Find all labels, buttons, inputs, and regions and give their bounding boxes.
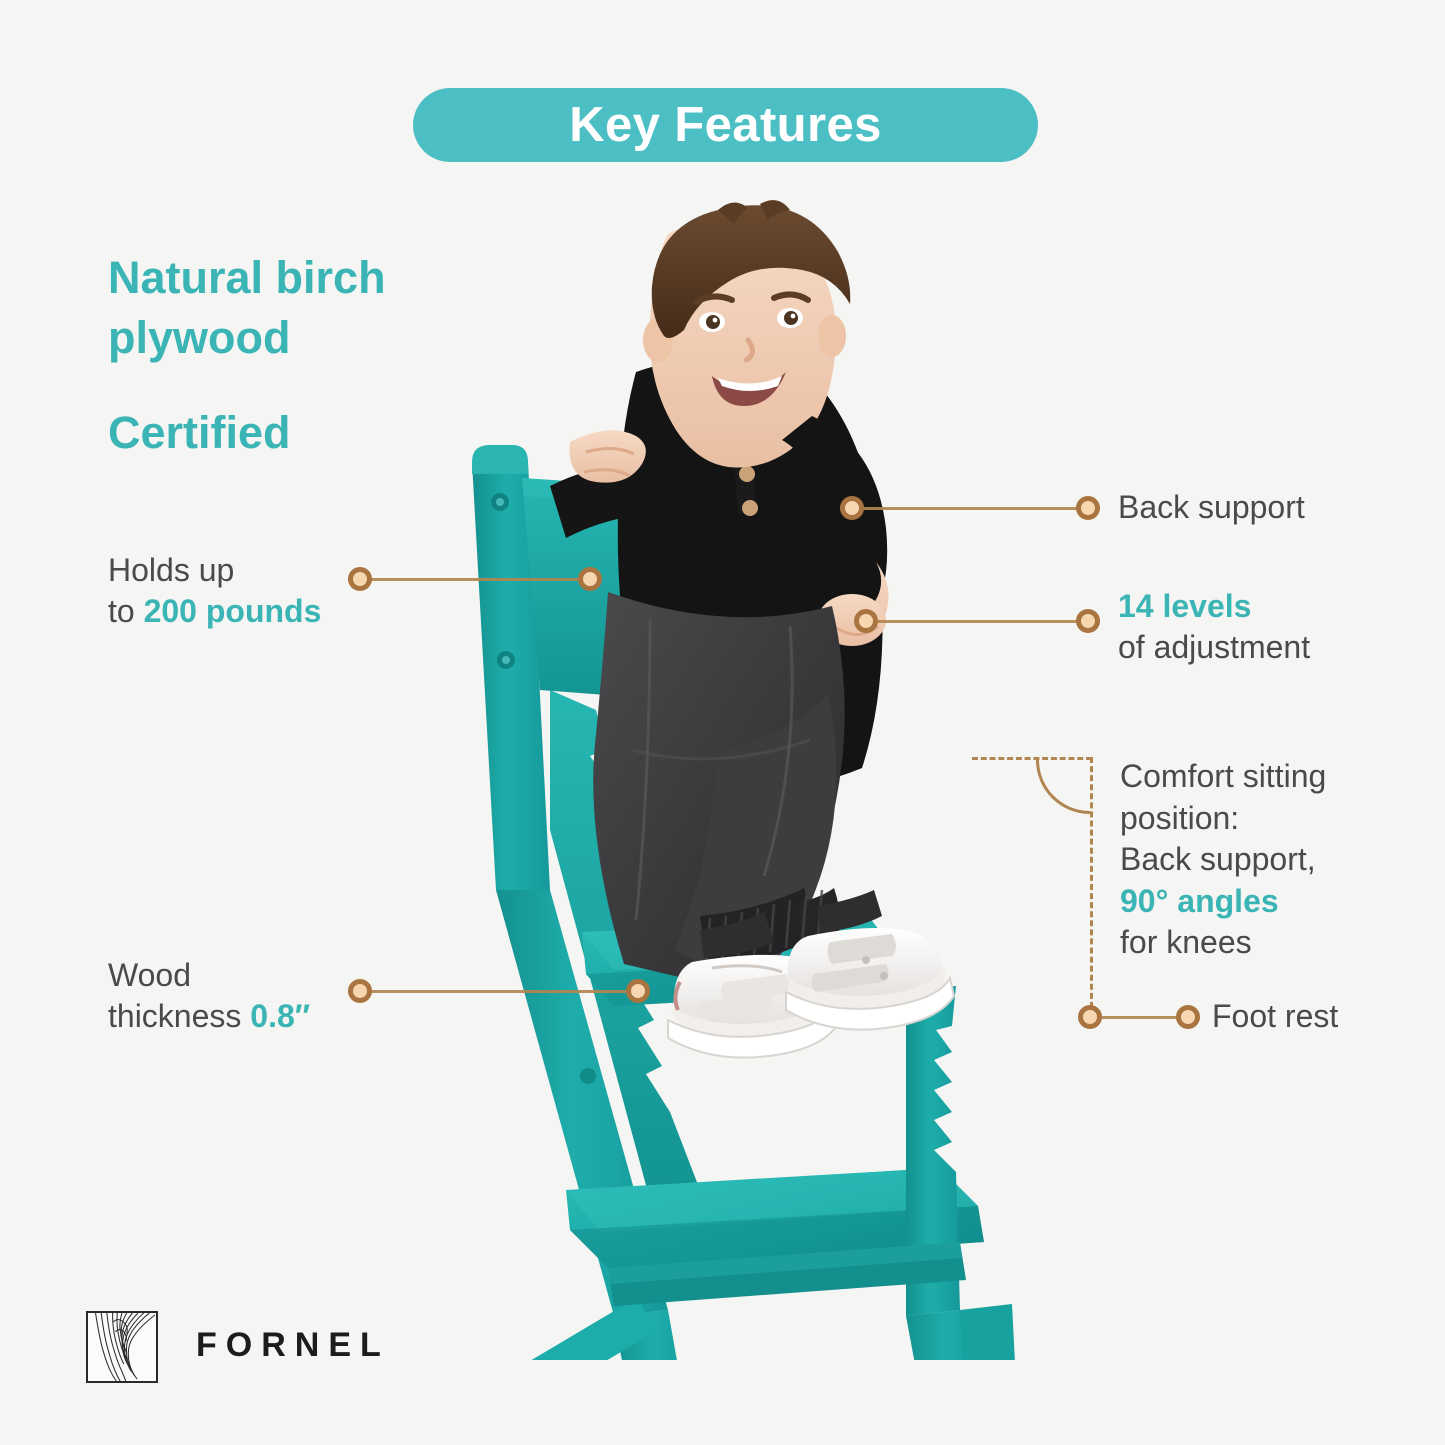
callout-thickness-prefix: thickness bbox=[108, 998, 250, 1034]
connector-dot-back-support-chair bbox=[840, 496, 864, 520]
callout-levels-label: of adjustment bbox=[1118, 627, 1310, 668]
callout-foot-rest: Foot rest bbox=[1212, 996, 1338, 1037]
infographic-canvas: Key Features Natural birch plywood Certi… bbox=[0, 0, 1445, 1445]
callout-comfort-line-1: Comfort sitting bbox=[1120, 756, 1326, 798]
callout-weight-value: 200 pounds bbox=[144, 593, 322, 629]
connector-line-weight bbox=[362, 578, 592, 581]
callout-foot-rest-label: Foot rest bbox=[1212, 996, 1338, 1037]
product-image-high-chair bbox=[400, 190, 1080, 1360]
headline-line-3: Certified bbox=[108, 407, 291, 458]
callout-comfort-angle-value: 90° angles bbox=[1120, 881, 1326, 923]
connector-dot-levels-chair bbox=[854, 609, 878, 633]
connector-dot-weight-chair bbox=[578, 567, 602, 591]
brand-name: FORNEL bbox=[196, 1326, 390, 1365]
page-title: Key Features bbox=[569, 97, 882, 153]
callout-comfort-position: Comfort sitting position: Back support, … bbox=[1120, 756, 1326, 964]
callout-back-support: Back support bbox=[1118, 487, 1305, 528]
callout-back-support-label: Back support bbox=[1118, 487, 1305, 528]
callout-thickness-line-2: thickness 0.8″ bbox=[108, 996, 310, 1037]
callout-weight-capacity: Holds up to 200 pounds bbox=[108, 550, 321, 632]
connector-dot-thickness-chair bbox=[626, 979, 650, 1003]
connector-dot-weight-text bbox=[348, 567, 372, 591]
connector-dot-foot-rest-left bbox=[1078, 1005, 1102, 1029]
connector-dot-back-support-text bbox=[1076, 496, 1100, 520]
connector-line-back-support bbox=[852, 507, 1090, 510]
callout-levels-value: 14 levels bbox=[1118, 586, 1310, 627]
callout-wood-thickness: Wood thickness 0.8″ bbox=[108, 955, 310, 1037]
callout-weight-line-1: Holds up bbox=[108, 550, 321, 591]
connector-dot-foot-rest-right bbox=[1176, 1005, 1200, 1029]
headline-line-2: plywood bbox=[108, 312, 290, 363]
key-features-badge: Key Features bbox=[413, 88, 1038, 162]
connector-line-thickness bbox=[362, 990, 640, 993]
callout-comfort-line-5: for knees bbox=[1120, 922, 1326, 964]
callout-comfort-line-3: Back support, bbox=[1120, 839, 1326, 881]
callout-weight-line-2: to 200 pounds bbox=[108, 591, 321, 632]
wood-grain-square-icon bbox=[86, 1311, 158, 1383]
connector-dot-thickness-text bbox=[348, 979, 372, 1003]
dashed-line-vertical-footrest bbox=[1090, 757, 1093, 1017]
callout-adjustment-levels: 14 levels of adjustment bbox=[1118, 586, 1310, 668]
headline-line-1: Natural birch bbox=[108, 252, 386, 303]
connector-dot-levels-text bbox=[1076, 609, 1100, 633]
callout-thickness-value: 0.8″ bbox=[250, 998, 310, 1034]
callout-weight-prefix: to bbox=[108, 593, 144, 629]
connector-line-levels bbox=[866, 620, 1090, 623]
callout-comfort-line-2: position: bbox=[1120, 798, 1326, 840]
callout-thickness-line-1: Wood bbox=[108, 955, 310, 996]
